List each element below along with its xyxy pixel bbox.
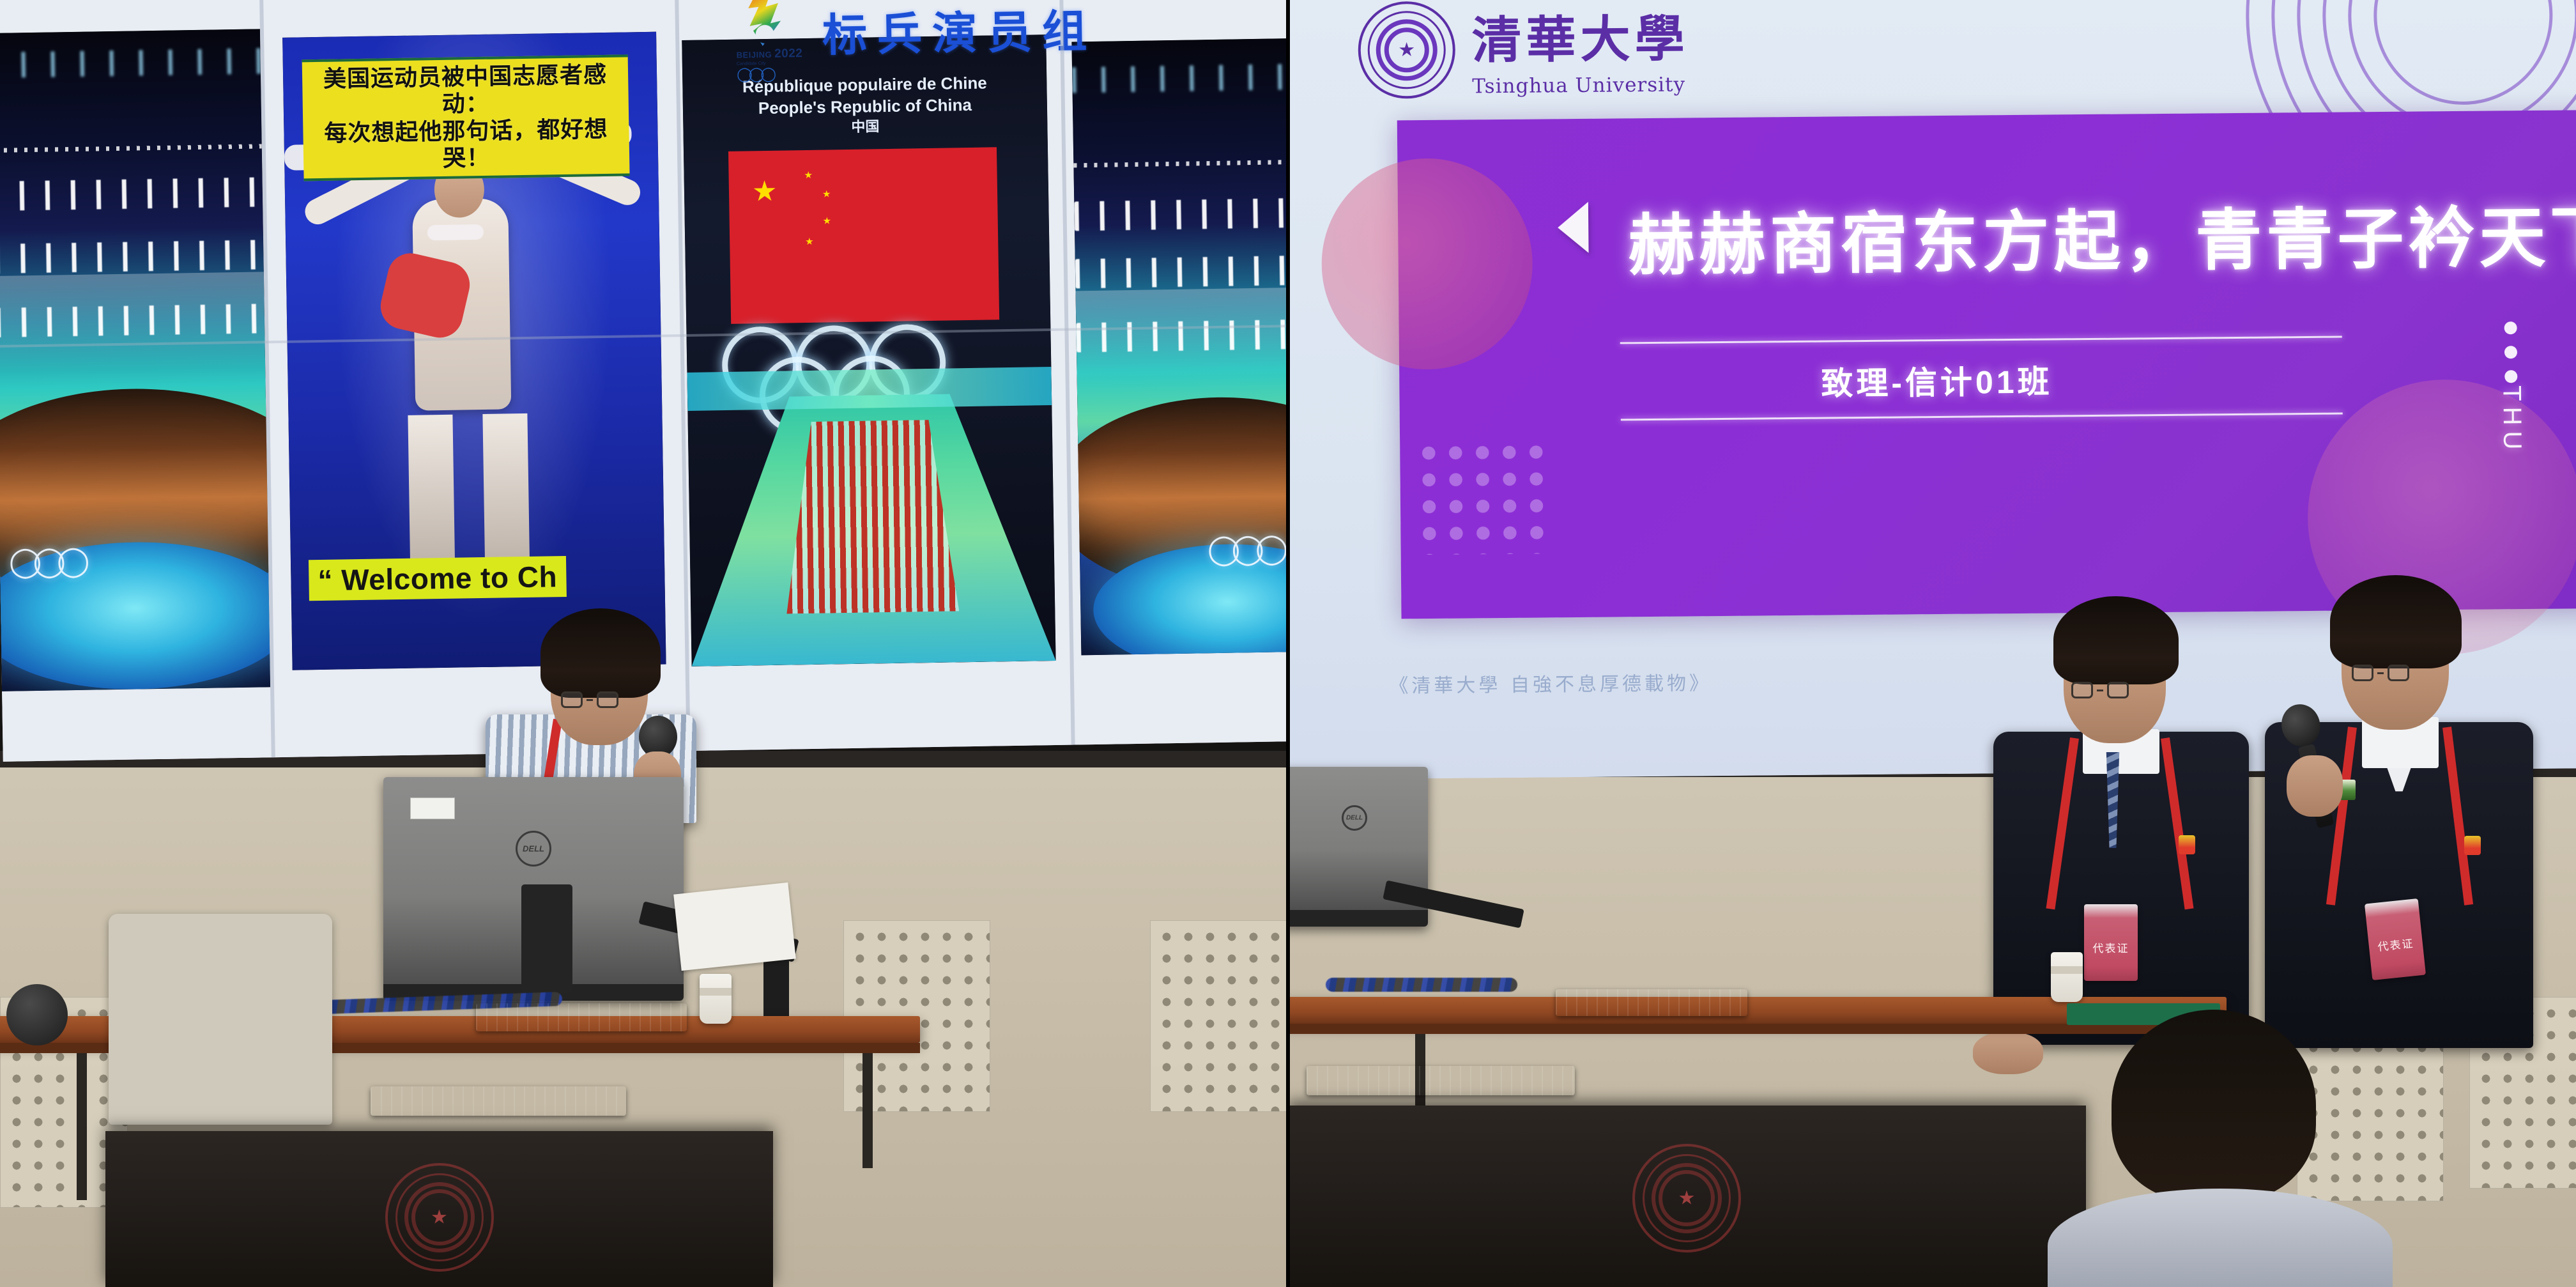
left-scene: ◯◯◯ 美国运动员被中国志愿者感动： 每次想起他那句话，都好想 xyxy=(0,0,1287,1287)
tsinghua-seal-icon: ★ xyxy=(385,1163,494,1272)
coffee-cup xyxy=(2051,952,2083,1002)
podium-keyboard xyxy=(1307,1066,1575,1095)
slide-purple-band: 赫赫商宿东方起，青青子衿天下先 致理-信计01班 THU xyxy=(1397,110,2576,619)
screenshot-root: ◯◯◯ 美国运动员被中国志愿者感动： 每次想起他那句话，都好想 xyxy=(0,0,2576,1287)
brand-name-en: Tsinghua University xyxy=(1472,73,1689,98)
coffee-cup xyxy=(700,974,732,1024)
video-tile-stadium-right: ◯◯◯ xyxy=(1071,38,1287,655)
logo-rings-icon: ◯◯◯ xyxy=(737,65,794,82)
decorative-dot-grid xyxy=(1415,438,1557,555)
perforated-acoustic-panel xyxy=(1150,920,1287,1112)
logo-year-label: 2022 xyxy=(774,47,803,61)
right-speaker-1: 代表证 xyxy=(1987,585,2255,1045)
dell-logo: DELL xyxy=(1342,805,1367,831)
badge-label: 代表证 xyxy=(2368,934,2423,955)
speaker-hair xyxy=(2053,596,2179,684)
slide-rule-bottom xyxy=(1621,413,2343,421)
chair xyxy=(109,914,332,1125)
speaker-hair xyxy=(540,608,661,698)
dell-monitor: DELL xyxy=(383,777,684,1001)
podium-keyboard xyxy=(371,1086,626,1116)
desk-keyboard xyxy=(1556,989,1747,1016)
lapel-pin-icon xyxy=(2179,835,2195,854)
tsinghua-seal-icon: ★ xyxy=(1632,1144,1741,1252)
slide-rule-top xyxy=(1620,336,2342,344)
tsinghua-motto: 《清華大學 自強不息厚德載物》 xyxy=(1389,667,1712,698)
glasses-icon xyxy=(2352,665,2409,681)
china-flag: ★ ★ ★ ★ ★ xyxy=(728,147,999,324)
panel-divider xyxy=(1286,0,1290,1287)
slide-title: 赫赫商宿东方起，青青子衿天下先 xyxy=(1628,182,2576,288)
speaker-hand xyxy=(2287,755,2343,817)
dell-logo: DELL xyxy=(516,831,551,867)
play-triangle-icon xyxy=(1558,202,1589,253)
decorative-circle xyxy=(1321,158,1533,371)
desk-cables xyxy=(1326,978,1517,992)
video-tile-news-clip: 美国运动员被中国志愿者感动： 每次想起他那句话，都好想哭！ “ Welcome … xyxy=(282,32,666,670)
right-podium: ★ xyxy=(1287,1106,2086,1287)
desk-keyboard xyxy=(476,1003,687,1031)
badge-label: 代表证 xyxy=(2084,939,2138,955)
glasses-icon xyxy=(561,691,618,708)
right-scene: ★ 清華大學 Tsinghua University 赫赫商宿东方起，青青子衿天… xyxy=(1287,0,2576,1287)
tsinghua-brand-mark: ★ 清華大學 Tsinghua University xyxy=(1358,0,1689,99)
mouse-puck xyxy=(6,984,68,1045)
beijing-2022-logo: BEIJING 2022 Candidate City ◯◯◯ xyxy=(735,0,794,83)
thu-vertical-mark: THU xyxy=(2497,385,2526,456)
delegate-badge: 代表证 xyxy=(2084,904,2138,981)
news-caption-line-2: 每次想起他那句话，都好想哭！ xyxy=(309,115,623,174)
left-podium: ★ xyxy=(105,1131,773,1287)
speaker-hair xyxy=(2330,575,2462,668)
tsinghua-seal-icon: ★ xyxy=(1358,1,1455,99)
news-caption: 美国运动员被中国志愿者感动： 每次想起他那句话，都好想哭！ xyxy=(302,54,630,181)
speaker-hand xyxy=(1973,1032,2043,1074)
brand-name-cn: 清華大學 xyxy=(1471,0,1689,72)
lapel-pin-icon xyxy=(2464,836,2481,855)
foreground-audience-member xyxy=(2073,1010,2354,1287)
logo-event-label: BEIJING xyxy=(737,50,772,60)
video-tile-china-delegation: République populaire de Chine People's R… xyxy=(682,35,1055,667)
vertical-dots xyxy=(2504,321,2518,383)
news-caption-line-1: 美国运动员被中国志愿者感动： xyxy=(309,61,622,121)
glasses-icon xyxy=(2071,682,2129,698)
right-speaker-2: 代表证 xyxy=(2258,569,2540,1054)
monitor-asset-label xyxy=(410,798,455,819)
screen-title: 标兵演员组 xyxy=(822,0,1098,65)
delegate-badge: 代表证 xyxy=(2365,898,2426,980)
papers xyxy=(673,882,796,971)
video-tile-stadium-left: ◯◯◯ xyxy=(0,29,270,691)
slide-subtitle: 致理-信计01班 xyxy=(1821,356,2053,404)
